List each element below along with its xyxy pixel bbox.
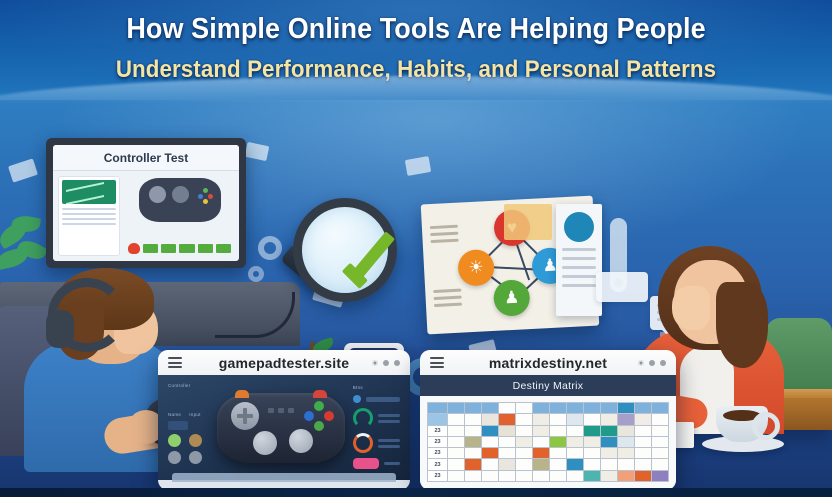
grid-cell[interactable]: [448, 414, 464, 424]
grid-cell[interactable]: [635, 448, 651, 458]
grid-cell[interactable]: [516, 471, 532, 481]
window-controls-icon[interactable]: [372, 360, 400, 366]
grid-row-header: [428, 414, 447, 424]
grid-cell[interactable]: [499, 448, 515, 458]
grid-cell[interactable]: [533, 448, 549, 458]
browser-window-gamepad[interactable]: gamepadtester.site Controller Name Input: [158, 350, 410, 490]
grid-cell[interactable]: [516, 459, 532, 469]
grid-header-cell[interactable]: [652, 403, 668, 413]
center-buttons[interactable]: [268, 408, 294, 413]
grid-cell[interactable]: [618, 426, 634, 436]
sidebar-label-buttons: Btns: [353, 385, 400, 390]
grid-cell[interactable]: [584, 459, 600, 469]
panel-footer: [172, 473, 396, 482]
grid-cell[interactable]: [601, 426, 617, 436]
grid-cell[interactable]: [499, 471, 515, 481]
grid-cell[interactable]: [499, 426, 515, 436]
gear-icon: [248, 266, 264, 282]
person-icon: ♟: [493, 279, 531, 317]
grid-header-cell[interactable]: [482, 403, 498, 413]
grid-cell[interactable]: [533, 437, 549, 447]
text-lines: [62, 208, 116, 225]
bottom-edge: [0, 488, 832, 497]
analog-stick-left[interactable]: [253, 431, 277, 455]
grid-header-cell[interactable]: [567, 403, 583, 413]
abxy-dots: [197, 188, 213, 204]
grid-cell[interactable]: [618, 459, 634, 469]
grid-cell[interactable]: [448, 426, 464, 436]
matrix-panel: 23 23: [420, 396, 676, 488]
grid-cell[interactable]: [618, 471, 634, 481]
sidebar-label-controller: Controller: [168, 383, 209, 388]
grid-cell[interactable]: [635, 471, 651, 481]
grid-cell[interactable]: [533, 414, 549, 424]
indicator-dot-gray[interactable]: [168, 451, 181, 464]
grid-cell[interactable]: [635, 414, 651, 424]
grid-cell[interactable]: [550, 426, 566, 436]
dpad-icon[interactable]: [231, 402, 259, 430]
grid-cell[interactable]: [482, 448, 498, 458]
grid-cell[interactable]: [550, 448, 566, 458]
grid-cell[interactable]: [618, 448, 634, 458]
grid-cell[interactable]: [448, 459, 464, 469]
monitor-stats-card: [58, 176, 120, 256]
grid-cell[interactable]: [584, 448, 600, 458]
progress-bar-row: [125, 243, 234, 256]
indicator-dot-blue[interactable]: [353, 395, 361, 403]
grid-cell[interactable]: [567, 459, 583, 469]
grid-header-cell[interactable]: [448, 403, 464, 413]
grid-cell[interactable]: [465, 414, 481, 424]
grid-cell[interactable]: [652, 426, 668, 436]
grid-header-cell[interactable]: [618, 403, 634, 413]
grid-cell[interactable]: [499, 437, 515, 447]
grid-cell[interactable]: [601, 414, 617, 424]
grid-cell[interactable]: [584, 414, 600, 424]
grid-cell[interactable]: [448, 437, 464, 447]
grid-cell[interactable]: [482, 414, 498, 424]
grid-cell[interactable]: [635, 426, 651, 436]
status-indicator: [128, 243, 140, 254]
grid-cell[interactable]: [584, 437, 600, 447]
illustration-scene: Controller Test: [0, 96, 832, 497]
grid-header-cell[interactable]: [516, 403, 532, 413]
pie-chart-icon: [564, 212, 594, 242]
grid-cell[interactable]: [465, 471, 481, 481]
grid-cell[interactable]: [550, 471, 566, 481]
grid-cell[interactable]: [635, 459, 651, 469]
grid-header-cell[interactable]: [550, 403, 566, 413]
grid-cell[interactable]: [448, 471, 464, 481]
writer-face: [672, 286, 710, 330]
browser-window-matrix[interactable]: matrixdestiny.net Destiny Matrix: [420, 350, 676, 490]
grid-cell[interactable]: [635, 437, 651, 447]
grid-cell[interactable]: [516, 448, 532, 458]
grid-header-cell[interactable]: [499, 403, 515, 413]
indicator-dot-green[interactable]: [168, 434, 181, 447]
grid-cell[interactable]: [618, 437, 634, 447]
page-title: How Simple Online Tools Are Helping Peop…: [29, 13, 803, 46]
grid-cell[interactable]: [601, 437, 617, 447]
grid-cell[interactable]: [567, 448, 583, 458]
grid-header-cell[interactable]: [533, 403, 549, 413]
gamepad-tester-panel: Controller Name Input: [158, 375, 410, 480]
grid-header-cell[interactable]: [601, 403, 617, 413]
grid-cell[interactable]: [652, 414, 668, 424]
gamepad-body: [217, 393, 345, 463]
bumper-right: [313, 390, 327, 398]
gauge-green: [353, 408, 373, 428]
chart-thumbnail: [62, 180, 116, 204]
coffee-cup: [716, 406, 768, 442]
grid-cell[interactable]: [448, 448, 464, 458]
writer-hair-front: [716, 282, 768, 368]
grid-cell[interactable]: [567, 437, 583, 447]
grid-cell[interactable]: [516, 426, 532, 436]
wall-chart: [556, 204, 602, 316]
gauge-orange: [353, 433, 373, 453]
grid-cell[interactable]: [465, 459, 481, 469]
page-subtitle: Understand Performance, Habits, and Pers…: [29, 56, 803, 84]
browser-title-bar: matrixdestiny.net: [420, 350, 676, 375]
abxy-buttons[interactable]: [304, 401, 334, 431]
grid-cell[interactable]: [533, 471, 549, 481]
pill-row: [353, 458, 400, 469]
grid-cell[interactable]: [567, 426, 583, 436]
grid-cell[interactable]: [482, 426, 498, 436]
gamepad-right-sidebar: Btns: [353, 383, 400, 472]
browser-title-bar: gamepadtester.site: [158, 350, 410, 375]
gauge-green-row: [353, 408, 400, 428]
indicator-dot-tan[interactable]: [189, 434, 202, 447]
status-row: [353, 395, 400, 403]
grid-cell[interactable]: [499, 414, 515, 424]
sidebar-label-name: Name: [168, 412, 181, 417]
headset-earcup: [46, 310, 74, 348]
grid-cell[interactable]: [499, 459, 515, 469]
grid-cell[interactable]: [533, 426, 549, 436]
gauge-orange-row: [353, 433, 400, 453]
grid-cell[interactable]: [652, 471, 668, 481]
grid-cell[interactable]: [652, 437, 668, 447]
grid-cell[interactable]: [567, 414, 583, 424]
grid-row-label: 23: [428, 437, 447, 447]
grid-cell[interactable]: [516, 437, 532, 447]
grid-cell[interactable]: [482, 437, 498, 447]
grid-header-cell[interactable]: [635, 403, 651, 413]
desktop-monitor: Controller Test: [46, 138, 246, 268]
grid-cell[interactable]: [584, 471, 600, 481]
grid-cell[interactable]: [601, 471, 617, 481]
grid-cell[interactable]: [550, 414, 566, 424]
magnifier-icon: [279, 192, 403, 316]
grid-cell[interactable]: [465, 437, 481, 447]
grid-row-label: 23: [428, 459, 447, 469]
grid-cell[interactable]: [550, 459, 566, 469]
gamepad-left-sidebar: Controller Name Input: [168, 383, 209, 472]
grid-header-cell[interactable]: [584, 403, 600, 413]
grid-cell[interactable]: [533, 459, 549, 469]
monitor-title: Controller Test: [53, 145, 239, 171]
window-controls-icon[interactable]: [638, 360, 666, 366]
bumper-left: [235, 390, 249, 398]
grid-cell[interactable]: [465, 448, 481, 458]
grid-cell[interactable]: [465, 426, 481, 436]
grid-cell[interactable]: [482, 459, 498, 469]
indicator-row: [168, 434, 209, 447]
gamepad-illustration: [139, 178, 221, 222]
grid-cell[interactable]: [516, 414, 532, 424]
grid-cell[interactable]: [652, 448, 668, 458]
grid-cell[interactable]: [550, 437, 566, 447]
analog-stick-right[interactable]: [289, 429, 313, 453]
lightbulb-icon: ☀: [457, 249, 495, 287]
grid-row-label: 23: [428, 448, 447, 458]
grid-cell[interactable]: [618, 414, 634, 424]
sidebar-label-input: Input: [189, 412, 201, 417]
grid-cell[interactable]: [601, 459, 617, 469]
indicator-row: [168, 451, 209, 464]
grid-corner: [428, 403, 447, 413]
grid-row-label: 23: [428, 471, 447, 481]
grid-cell[interactable]: [652, 459, 668, 469]
grid-cell[interactable]: [567, 471, 583, 481]
grid-header-cell[interactable]: [465, 403, 481, 413]
sticky-note: [504, 204, 552, 240]
sidebar-chip[interactable]: [168, 421, 188, 430]
magnifier-lens: [293, 198, 397, 302]
indicator-dot-gray[interactable]: [189, 451, 202, 464]
matrix-grid[interactable]: 23 23: [427, 402, 669, 482]
status-pill[interactable]: [353, 458, 379, 469]
grid-cell[interactable]: [482, 471, 498, 481]
check-icon: [346, 241, 372, 293]
poster-root: How Simple Online Tools Are Helping Peop…: [0, 0, 832, 497]
grid-cell[interactable]: [601, 448, 617, 458]
monitor-screen: Controller Test: [53, 145, 239, 261]
grid-row-label: 23: [428, 426, 447, 436]
gamepad-visual: [217, 383, 345, 472]
grid-cell[interactable]: [584, 426, 600, 436]
panel-title: Destiny Matrix: [420, 375, 676, 396]
poster-header: How Simple Online Tools Are Helping Peop…: [0, 0, 832, 100]
